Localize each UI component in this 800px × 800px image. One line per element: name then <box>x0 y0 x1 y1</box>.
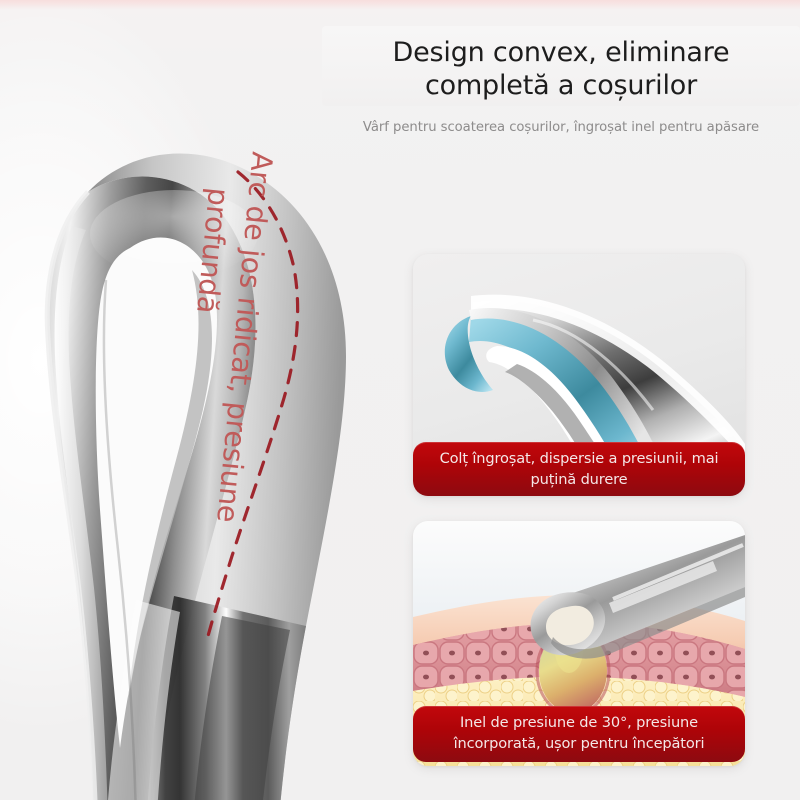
feature-card-pressure-ring[interactable]: Inel de presiune de 30°, presiune încorp… <box>413 521 745 766</box>
card-caption-line-2: puțină durere <box>531 471 628 488</box>
headline-line-2: completă a coșurilor <box>322 69 800 102</box>
card-caption-line-1: Inel de presiune de 30°, presiune <box>460 714 698 731</box>
page-subtitle: Vârf pentru scoaterea coșurilor, îngroșa… <box>322 120 800 135</box>
feature-card-thickened-corner[interactable]: Colț îngroșat, dispersie a presiunii, ma… <box>413 254 745 496</box>
card-caption-banner: Inel de presiune de 30°, presiune încorp… <box>413 706 745 762</box>
card-caption-line-2: încorporată, ușor pentru începători <box>454 735 705 752</box>
chrome-comedone-extractor-loop-icon <box>0 130 360 800</box>
product-feature-poster: Design convex, eliminare completă a coșu… <box>0 0 800 800</box>
card-caption-line-1: Colț îngroșat, dispersie a presiunii, ma… <box>440 450 719 467</box>
card-caption-banner: Colț îngroșat, dispersie a presiunii, ma… <box>413 442 745 496</box>
background-top-pink-line <box>0 0 800 10</box>
page-title: Design convex, eliminare completă a coșu… <box>322 36 800 102</box>
headline-line-1: Design convex, eliminare <box>393 37 730 68</box>
